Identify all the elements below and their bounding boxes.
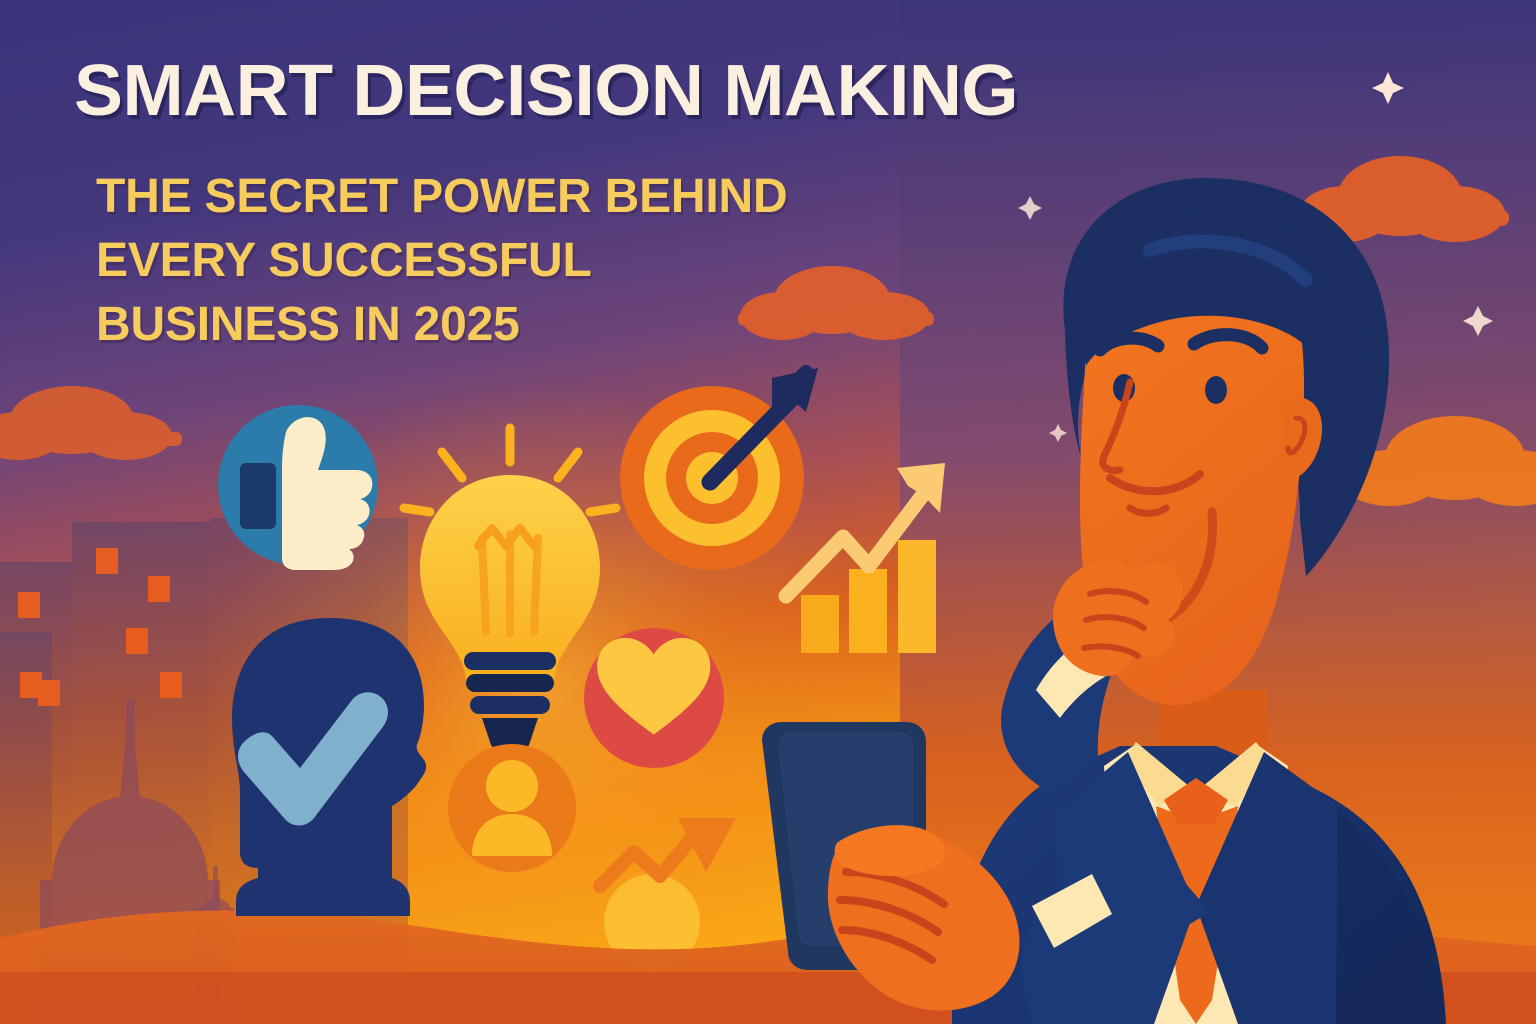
user-avatar-icon [448, 744, 576, 872]
thumb-cuff [240, 463, 276, 529]
subtitle-line-1: THE SECRET POWER BEHIND [96, 165, 787, 229]
poster-canvas: SMART DECISION MAKING THE SECRET POWER B… [0, 0, 1536, 1024]
subtitle-line-3: BUSINESS IN 2025 [96, 293, 787, 357]
bar-3 [898, 540, 936, 653]
eye-right [1205, 376, 1227, 404]
avatar-head [486, 760, 538, 812]
page-subtitle: THE SECRET POWER BEHIND EVERY SUCCESSFUL… [96, 165, 787, 356]
page-title: SMART DECISION MAKING [74, 55, 1018, 127]
poster-illustration [0, 0, 1536, 1024]
heart-icon [584, 628, 724, 768]
bar-1 [801, 595, 839, 653]
subtitle-line-2: EVERY SUCCESSFUL [96, 229, 787, 293]
bar-2 [849, 569, 887, 653]
